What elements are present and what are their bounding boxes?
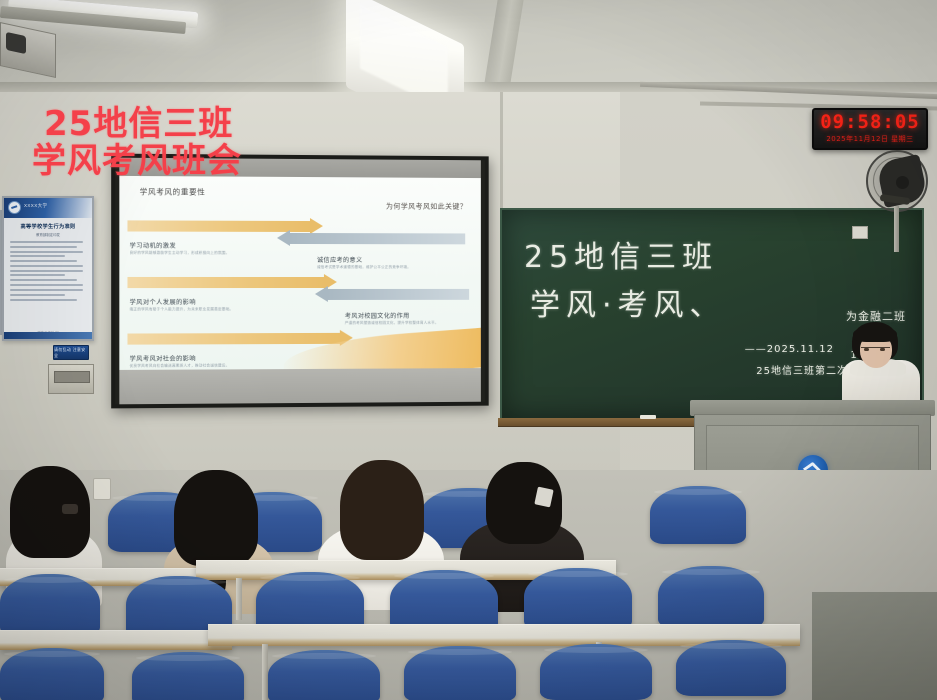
overlay-caption: 25地信三班 学风考风班会 — [44, 106, 242, 179]
utility-box-panel — [54, 371, 90, 383]
poster-body — [4, 237, 92, 301]
student-hair — [174, 470, 258, 566]
chair — [0, 574, 100, 636]
slide-arrow-left-2 — [327, 289, 469, 300]
fan-mount-pole — [894, 206, 899, 252]
digital-clock: 09:58:05 2025年11月12日 星期三 — [812, 108, 928, 150]
fan-hub — [896, 176, 909, 189]
chair — [0, 648, 104, 700]
student-hair — [10, 466, 90, 558]
slide-item-sub-4: 严谨的考风塑造诚信校园文化，提升学校整体育人水平。 — [345, 321, 439, 326]
presenter-eye-left — [864, 348, 869, 351]
wall-utility-box — [48, 364, 94, 394]
slide-item-sub-3: 端正的学风有助于个人能力提升，为未来职业发展奠定基础。 — [130, 307, 234, 312]
classroom-photo: XXXX大学 高等学校学生行为准则 教育部制定印发 学生工作处 宣 请勿乱动 注… — [0, 0, 937, 700]
slide-item-sub-2: 诚信考试是学术道德的基础，维护公平公正的竞争环境。 — [317, 265, 411, 270]
slide-arrow-right-2 — [127, 277, 324, 288]
slide-item-label-3: 学风对个人发展的影响 — [130, 297, 196, 306]
chair — [650, 486, 746, 544]
slide-item-label-2: 诚信应考的意义 — [317, 255, 363, 264]
poster-header: XXXX大学 — [4, 198, 92, 218]
blackboard-line2: 学风·考风、 — [530, 280, 726, 324]
slide-item-label-5: 学风考风对社会的影响 — [130, 353, 196, 362]
chair — [676, 640, 786, 696]
blackboard-date: ——2025.11.12 — [745, 344, 834, 355]
wall-notice-poster: XXXX大学 高等学校学生行为准则 教育部制定印发 学生工作处 宣 — [2, 196, 94, 341]
wall-warning-sign-label: 请勿乱动 注意安全 — [54, 347, 88, 359]
presenter-eye-right — [880, 348, 885, 351]
slide-title: 学风考风的重要性 — [140, 186, 206, 197]
presenter-fringe — [853, 326, 897, 342]
slide-question: 为何学风考风如此关键？ — [386, 201, 467, 211]
overlay-caption-line1: 25地信三班 — [44, 106, 242, 143]
poster-org-name: XXXX大学 — [24, 203, 47, 209]
poster-title: 高等学校学生行为准则 — [4, 223, 92, 230]
chair — [390, 570, 498, 632]
slide-canvas: 学风考风的重要性 为何学风考风如此关键？ 学习动机的激发 良好的学风能够激励学生… — [119, 176, 481, 370]
chalk-piece — [640, 415, 656, 419]
university-logo-icon — [8, 201, 21, 214]
blackboard-line1: 25地信三班 — [524, 232, 718, 276]
chair — [404, 646, 516, 700]
chair — [268, 650, 380, 700]
presenter — [840, 322, 936, 412]
desk — [0, 630, 232, 650]
desk-leg — [236, 578, 242, 620]
wall-power-socket — [852, 226, 868, 239]
chair — [540, 644, 652, 700]
chair — [132, 652, 244, 700]
student-hair — [340, 460, 424, 560]
slide-arrow-right-3 — [127, 333, 340, 345]
poster-bottom-band — [4, 332, 92, 339]
slide-arrow-left-1 — [289, 233, 465, 244]
slide-item-label-4: 考风对校园文化的作用 — [345, 311, 410, 320]
chair — [524, 568, 632, 630]
clock-time: 09:58:05 — [814, 110, 926, 134]
slide-item-sub-5: 优良学风考风向社会输送高素质人才，推动社会诚信建设。 — [130, 363, 230, 369]
side-cabinet — [812, 592, 937, 700]
projection-screen: 学风考风的重要性 为何学风考风如此关键？ 学习动机的激发 良好的学风能够激励学生… — [111, 154, 489, 409]
slide-item-sub-1: 良好的学风能够激励学生主动学习，形成积极向上的氛围。 — [130, 251, 230, 256]
clock-date: 2025年11月12日 星期三 — [814, 134, 926, 144]
chair — [658, 566, 764, 628]
slide-item-label-1: 学习动机的激发 — [130, 241, 177, 250]
wall-warning-sign: 请勿乱动 注意安全 — [53, 345, 89, 360]
student-glasses — [62, 504, 78, 514]
overlay-caption-line2: 学风考风班会 — [32, 143, 242, 180]
screen-bottom-band — [119, 368, 481, 404]
